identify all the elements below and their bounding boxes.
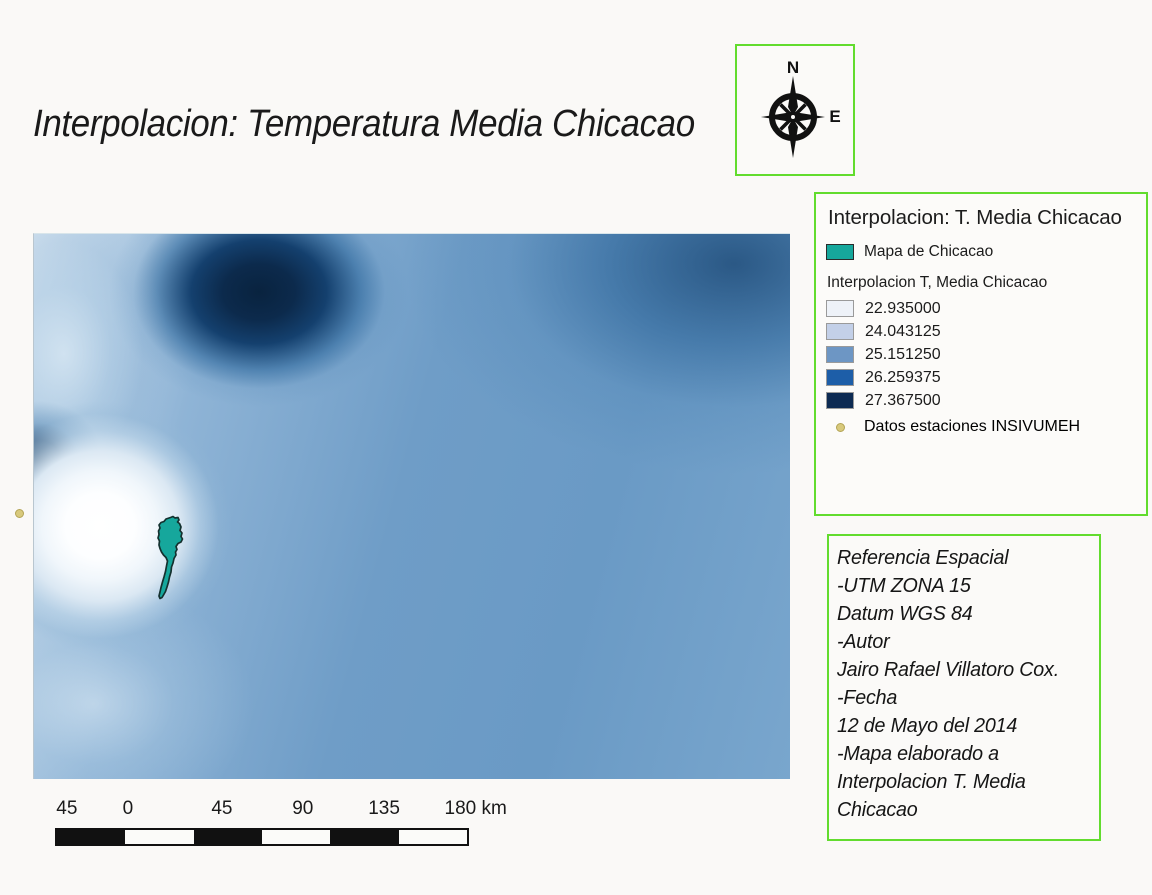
legend-item-stations[interactable]: Datos estaciones INSIVUMEH (826, 414, 1146, 440)
legend-ramp-swatch (826, 323, 854, 340)
legend-ramp-swatch (826, 346, 854, 363)
legend-station-dot-icon (836, 423, 845, 432)
legend-ramp-swatch (826, 300, 854, 317)
scale-bar-label: 180 km (445, 798, 507, 820)
compass-wrap: N E (737, 46, 853, 174)
north-arrow-box: N E (735, 44, 855, 176)
compass-rose-icon: N E (751, 54, 843, 166)
station-dot-icon (15, 509, 24, 518)
scale-bar-label: 135 (368, 798, 400, 820)
legend-ramp-swatch (826, 392, 854, 409)
scale-bar-segment (262, 830, 330, 844)
reference-line: -UTM ZONA 15 (837, 572, 1083, 600)
legend-ramp: 22.93500024.04312525.15125026.25937527.3… (826, 297, 1146, 412)
reference-line: -Autor (837, 628, 1083, 656)
reference-line: -Fecha (837, 684, 1083, 712)
legend-ramp-label: 25.151250 (865, 346, 941, 364)
legend-item-polygon[interactable]: Mapa de Chicacao (826, 239, 1146, 264)
reference-line: Jairo Rafael Villatoro Cox. (837, 656, 1083, 684)
scale-bar-label: 0 (123, 798, 134, 820)
scale-bar-segment (399, 830, 467, 844)
page-title: Interpolacion: Temperatura Media Chicaca… (33, 99, 677, 149)
legend-ramp-row[interactable]: 22.935000 (826, 297, 1146, 320)
legend-title: Interpolacion: T. Media Chicacao (828, 206, 1146, 230)
station-point[interactable] (15, 509, 24, 518)
legend-ramp-title: Interpolacion T, Media Chicacao (827, 274, 1146, 292)
legend-ramp-row[interactable]: 26.259375 (826, 366, 1146, 389)
svg-text:E: E (829, 107, 840, 126)
scale-bar-segment (330, 830, 398, 844)
legend-dot-holder (826, 419, 854, 435)
scale-bar-label: 90 (292, 798, 313, 820)
legend-ramp-label: 26.259375 (865, 369, 941, 387)
legend-ramp-row[interactable]: 25.151250 (826, 343, 1146, 366)
chicacao-municipality-polygon[interactable] (146, 515, 198, 601)
reference-line: Chicacao (837, 796, 1083, 824)
scale-bar-labels: 4504590135180 km (33, 798, 503, 822)
spatial-reference-box: Referencia Espacial-UTM ZONA 15Datum WGS… (827, 534, 1101, 841)
legend-ramp-label: 24.043125 (865, 323, 941, 341)
interpolation-raster-low-center (34, 234, 790, 779)
legend-ramp-swatch (826, 369, 854, 386)
scale-bar-segment (125, 830, 193, 844)
scale-bar-label: 45 (211, 798, 232, 820)
reference-line: Datum WGS 84 (837, 600, 1083, 628)
scale-bar-label: 45 (56, 798, 77, 820)
reference-line: Interpolacion T. Media (837, 768, 1083, 796)
map-canvas[interactable] (33, 233, 790, 779)
reference-line: Referencia Espacial (837, 544, 1083, 572)
legend-swatch-polygon (826, 244, 854, 260)
legend-ramp-label: 27.367500 (865, 392, 941, 410)
legend-label-polygon: Mapa de Chicacao (864, 243, 993, 261)
scale-bar-segment (194, 830, 262, 844)
svg-text:N: N (787, 58, 799, 77)
legend-ramp-row[interactable]: 24.043125 (826, 320, 1146, 343)
legend-box: Interpolacion: T. Media Chicacao Mapa de… (814, 192, 1148, 516)
legend-ramp-row[interactable]: 27.367500 (826, 389, 1146, 412)
legend-label-stations: Datos estaciones INSIVUMEH (864, 418, 1080, 436)
legend-ramp-label: 22.935000 (865, 300, 941, 318)
scale-bar (55, 828, 469, 846)
scale-bar-group: 4504590135180 km (33, 798, 503, 853)
reference-line: 12 de Mayo del 2014 (837, 712, 1083, 740)
scale-bar-segment (57, 830, 125, 844)
reference-line: -Mapa elaborado a (837, 740, 1083, 768)
